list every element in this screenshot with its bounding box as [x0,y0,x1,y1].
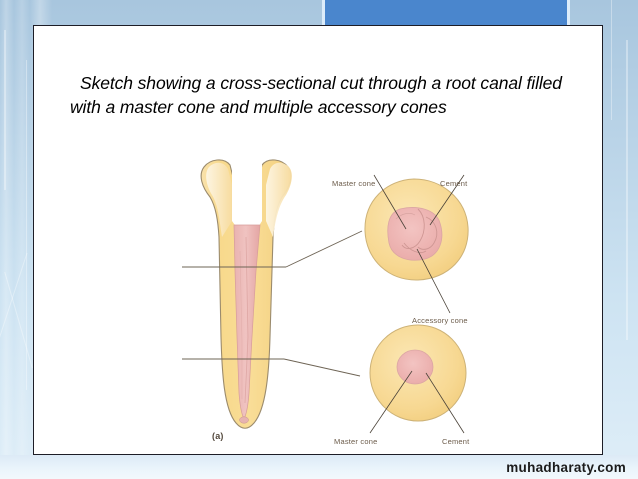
cross-section-lower [370,325,466,433]
label-master-cone-bottom: Master cone [334,437,377,446]
leader-line-upper-section [286,231,362,267]
background-streak [611,0,612,120]
tooth-enamel-highlight-right [266,163,292,237]
tooth-longitudinal-section [182,160,292,428]
label-cement-top: Cement [440,179,467,188]
cross-section-lower-master-cone [397,350,433,384]
tooth-cross-section-figure: Master cone Cement Accessory cone Master… [174,151,494,446]
cross-section-upper [365,175,468,313]
leader-line-lower-section [284,359,360,376]
slide-root: Sketch showing a cross-sectional cut thr… [0,0,638,479]
cross-section-upper-cones-mass [388,208,442,261]
background-streak [626,40,628,340]
footer-bar: muhadharaty.com [0,455,638,479]
background-streak [4,30,6,190]
slide-canvas: Sketch showing a cross-sectional cut thr… [33,25,603,455]
background-streak [4,272,33,368]
label-accessory-cone: Accessory cone [412,316,468,325]
root-apex [240,417,249,423]
label-cement-bottom: Cement [442,437,469,446]
watermark-text: muhadharaty.com [506,460,626,475]
page-title: Sketch showing a cross-sectional cut thr… [70,71,575,119]
figure-caption: (a) [212,431,224,441]
background-streak [0,253,28,367]
background-streak [26,60,27,390]
label-master-cone-top: Master cone [332,179,375,188]
tooth-diagram-svg [174,151,494,446]
